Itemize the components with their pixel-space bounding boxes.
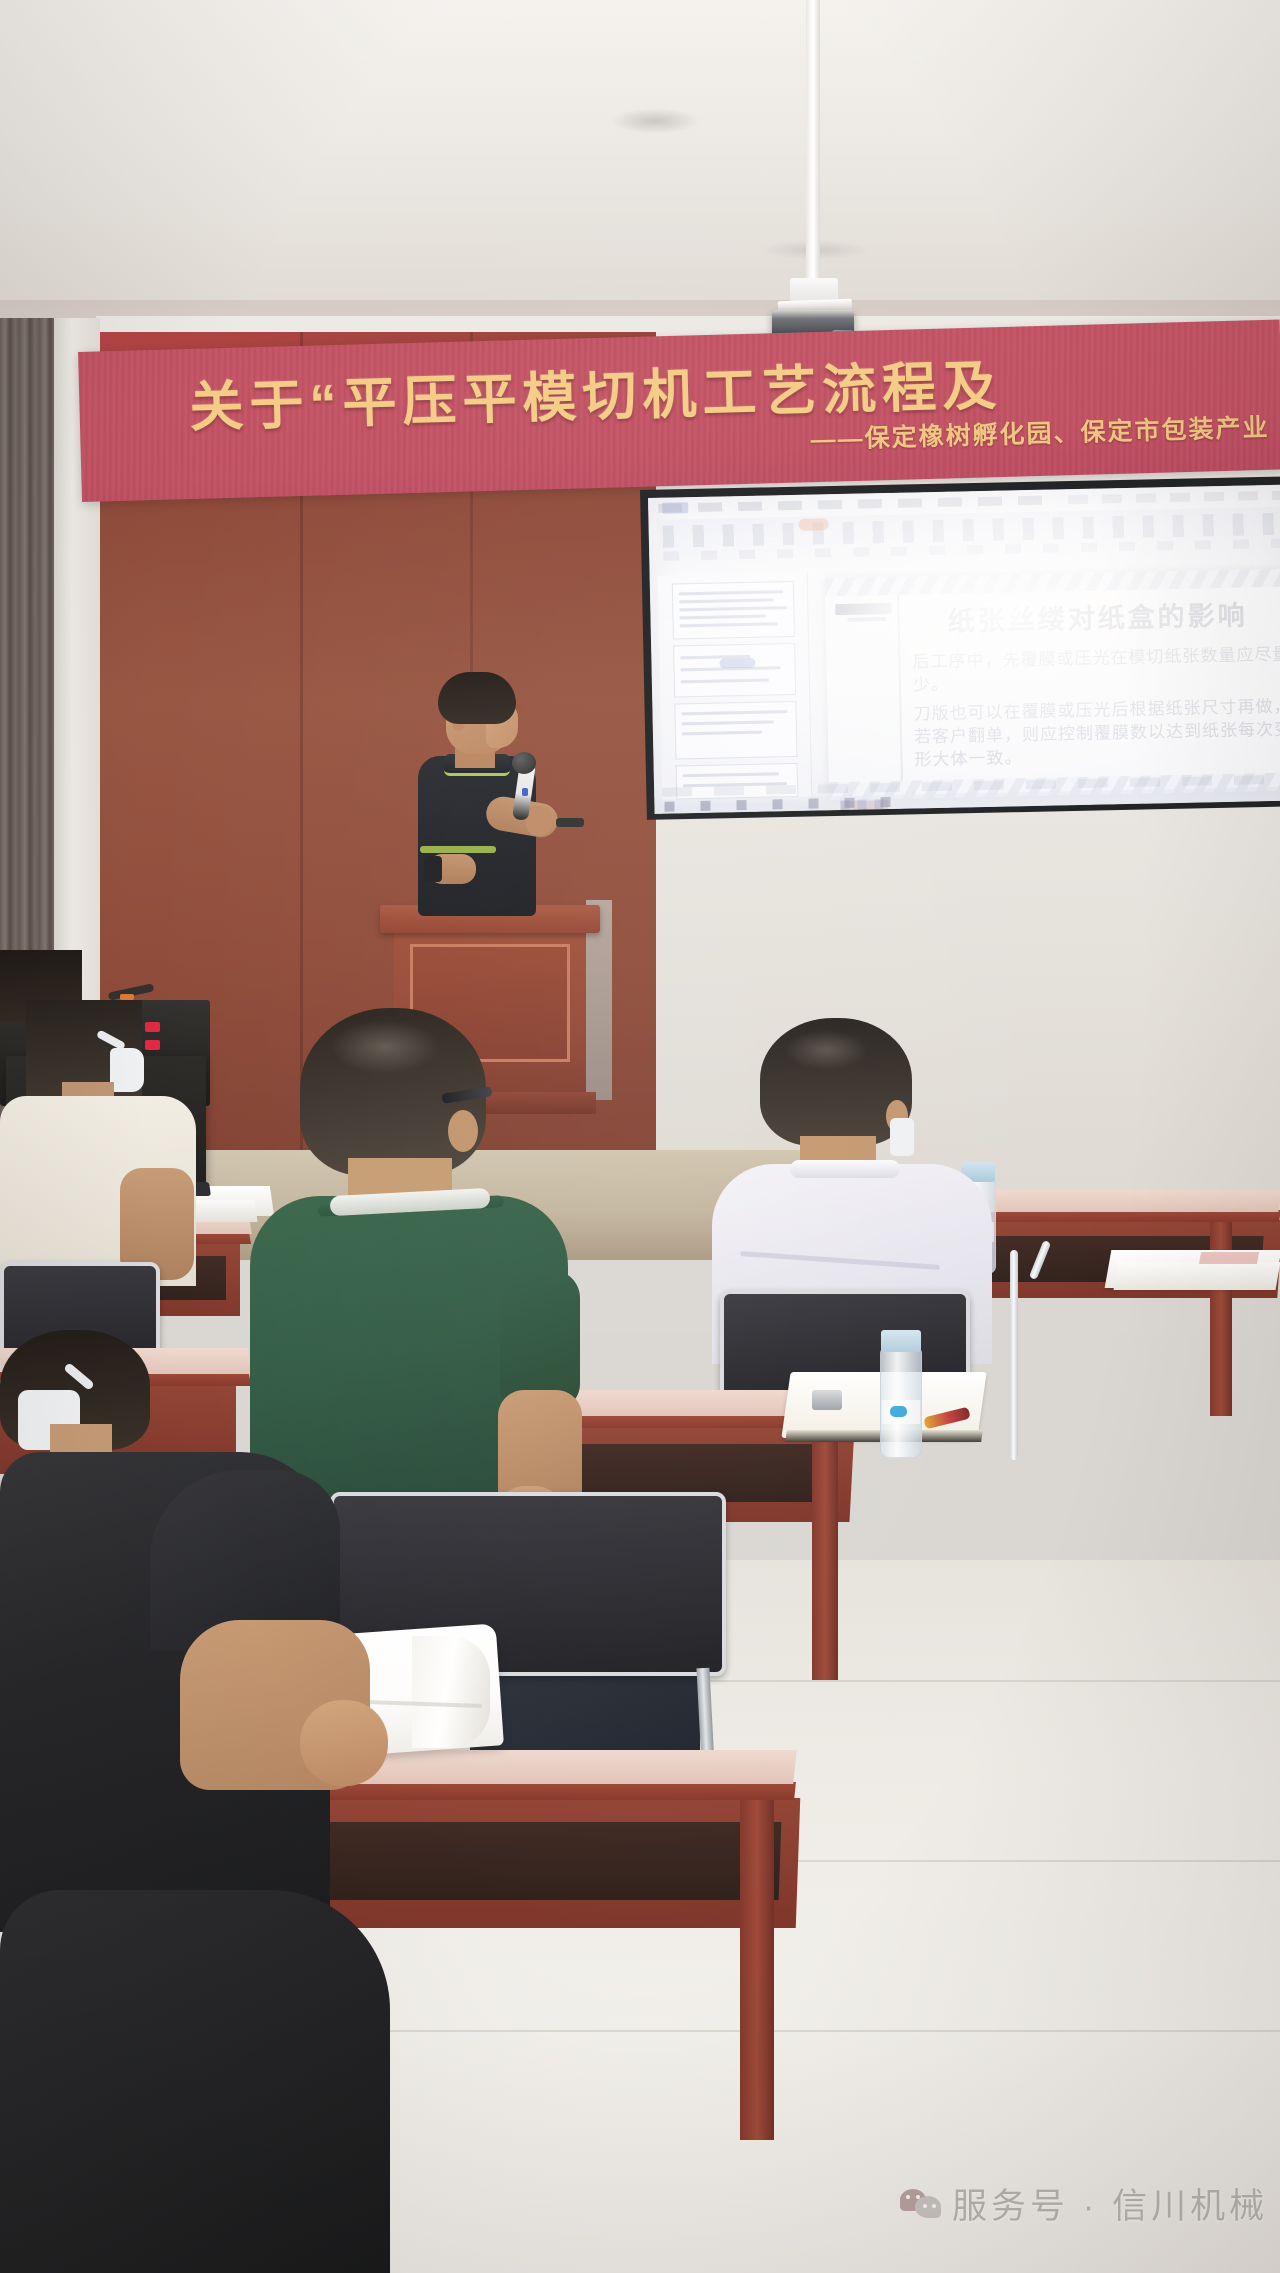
attendee-hand [300, 1700, 388, 1786]
desk-leg [740, 1790, 774, 2140]
paper-curl-roll [412, 1636, 490, 1748]
presenter-wristband [424, 856, 442, 882]
microphone-head [512, 752, 536, 774]
speaker-power-led [145, 1022, 160, 1032]
presenter-sleeve-trim [420, 846, 496, 853]
speaker-power-led [145, 1040, 160, 1050]
presenter-hand [526, 806, 552, 836]
hair-highlight [330, 1020, 440, 1074]
desk-leg [1210, 1216, 1232, 1416]
attendee-collar [790, 1160, 900, 1178]
laser-pointer-icon [556, 818, 584, 827]
projector-mount-pole [806, 0, 820, 300]
ceiling-stain [610, 108, 700, 134]
notebook-clip-icon [812, 1390, 842, 1410]
watermark-text: 服务号 · 信川机械 [952, 2178, 1268, 2229]
bottle-label-mark [890, 1406, 907, 1417]
presenter-hair [438, 672, 516, 724]
projection-screen: 纸张丝缕对纸盒的影响 后工序中，先覆膜或压光在模切纸张数量应尽量少。 刀版也可以… [648, 484, 1280, 814]
face-mask [890, 1118, 914, 1156]
watermark: 服务号 · 信川机械 [900, 2178, 1268, 2229]
face-mask [110, 1048, 144, 1092]
microphone-led [522, 788, 528, 796]
attendee-ear [448, 1110, 478, 1152]
desk-leg [812, 1420, 838, 1680]
polo-sleeve [500, 1270, 580, 1410]
loose-papers [1114, 1262, 1280, 1290]
attendee-lower-body [0, 1890, 390, 2273]
hair-highlight [784, 1030, 868, 1070]
wechat-icon [900, 2187, 942, 2221]
projector-glow [648, 484, 1280, 814]
bottle-cap [881, 1330, 921, 1352]
paper-printed-mark [1199, 1252, 1259, 1264]
photo-scene: 关于“平压平模切机工艺流程及 ——保定橡树孵化园、保定市包装产业 [0, 0, 1280, 2273]
power-cable [1010, 1250, 1018, 1460]
ceiling [0, 0, 1280, 330]
